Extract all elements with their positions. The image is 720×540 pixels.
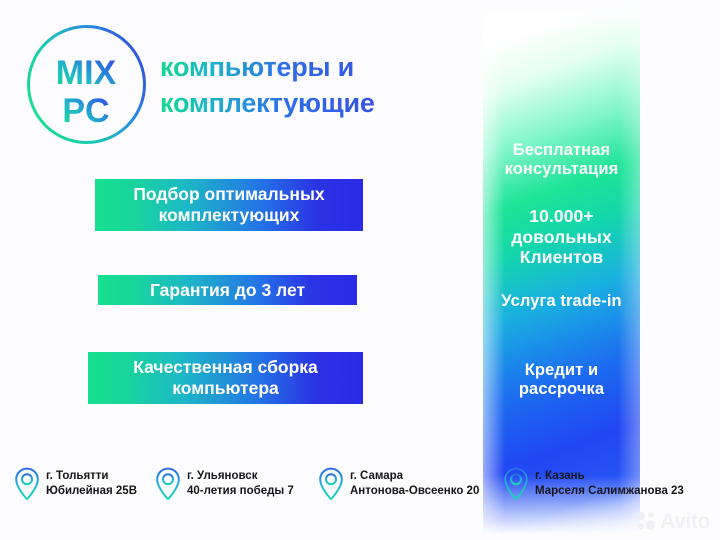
brand-logo: MIX PC xyxy=(24,22,149,147)
benefit-item-1: Бесплатная консультация xyxy=(483,141,640,180)
map-pin-icon xyxy=(503,467,529,501)
locations-bar: г. Тольятти Юбилейная 25В г. Ульяновск 4… xyxy=(0,462,720,518)
location-text-4: г. Казань Марселя Салимжанова 23 xyxy=(535,469,684,500)
location-address-4: Марселя Салимжанова 23 xyxy=(535,484,684,499)
feature-box-1-label: Подбор оптимальных комплектующих xyxy=(95,184,363,226)
benefit-item-4: Кредит и рассрочка xyxy=(483,361,640,400)
feature-box-3: Качественная сборка компьютера xyxy=(88,352,363,404)
location-address-2: 40-летия победы 7 xyxy=(187,484,294,499)
poster-canvas: MIX PC компьютеры и комплектующие Подбор… xyxy=(0,0,720,540)
avito-watermark: Avito xyxy=(635,510,710,532)
feature-box-1: Подбор оптимальных комплектующих xyxy=(95,179,363,231)
headline-line-2: комплектующие xyxy=(160,86,460,122)
logo-wordmark: MIX PC xyxy=(24,22,149,147)
feature-box-2-label: Гарантия до 3 лет xyxy=(98,280,357,301)
map-pin-icon xyxy=(14,467,40,501)
map-pin-icon xyxy=(318,467,344,501)
location-city-3: г. Самара xyxy=(350,469,479,484)
feature-box-3-label: Качественная сборка компьютера xyxy=(88,357,363,399)
location-city-1: г. Тольятти xyxy=(46,469,137,484)
location-item-4: г. Казань Марселя Салимжанова 23 xyxy=(503,467,684,501)
avito-logo-icon xyxy=(635,510,657,532)
benefit-item-3: Услуга trade-in xyxy=(483,292,640,311)
page-title: компьютеры и комплектующие xyxy=(160,50,460,121)
location-text-2: г. Ульяновск 40-летия победы 7 xyxy=(187,469,294,500)
map-pin-icon xyxy=(155,467,181,501)
location-item-2: г. Ульяновск 40-летия победы 7 xyxy=(155,467,294,501)
location-city-4: г. Казань xyxy=(535,469,684,484)
location-text-3: г. Самара Антонова-Овсеенко 20 xyxy=(350,469,479,500)
logo-text-pc: PC xyxy=(62,92,109,130)
location-text-1: г. Тольятти Юбилейная 25В xyxy=(46,469,137,500)
location-item-1: г. Тольятти Юбилейная 25В xyxy=(14,467,137,501)
location-address-1: Юбилейная 25В xyxy=(46,484,137,499)
feature-box-2: Гарантия до 3 лет xyxy=(98,275,357,305)
logo-text-mix: MIX xyxy=(56,54,117,92)
location-address-3: Антонова-Овсеенко 20 xyxy=(350,484,479,499)
headline-line-1: компьютеры и xyxy=(160,50,460,86)
benefit-item-2: 10.000+ довольных Клиентов xyxy=(483,206,640,268)
benefits-panel: Бесплатная консультация 10.000+ довольны… xyxy=(483,0,640,540)
location-item-3: г. Самара Антонова-Овсеенко 20 xyxy=(318,467,479,501)
avito-watermark-label: Avito xyxy=(660,511,710,532)
location-city-2: г. Ульяновск xyxy=(187,469,294,484)
